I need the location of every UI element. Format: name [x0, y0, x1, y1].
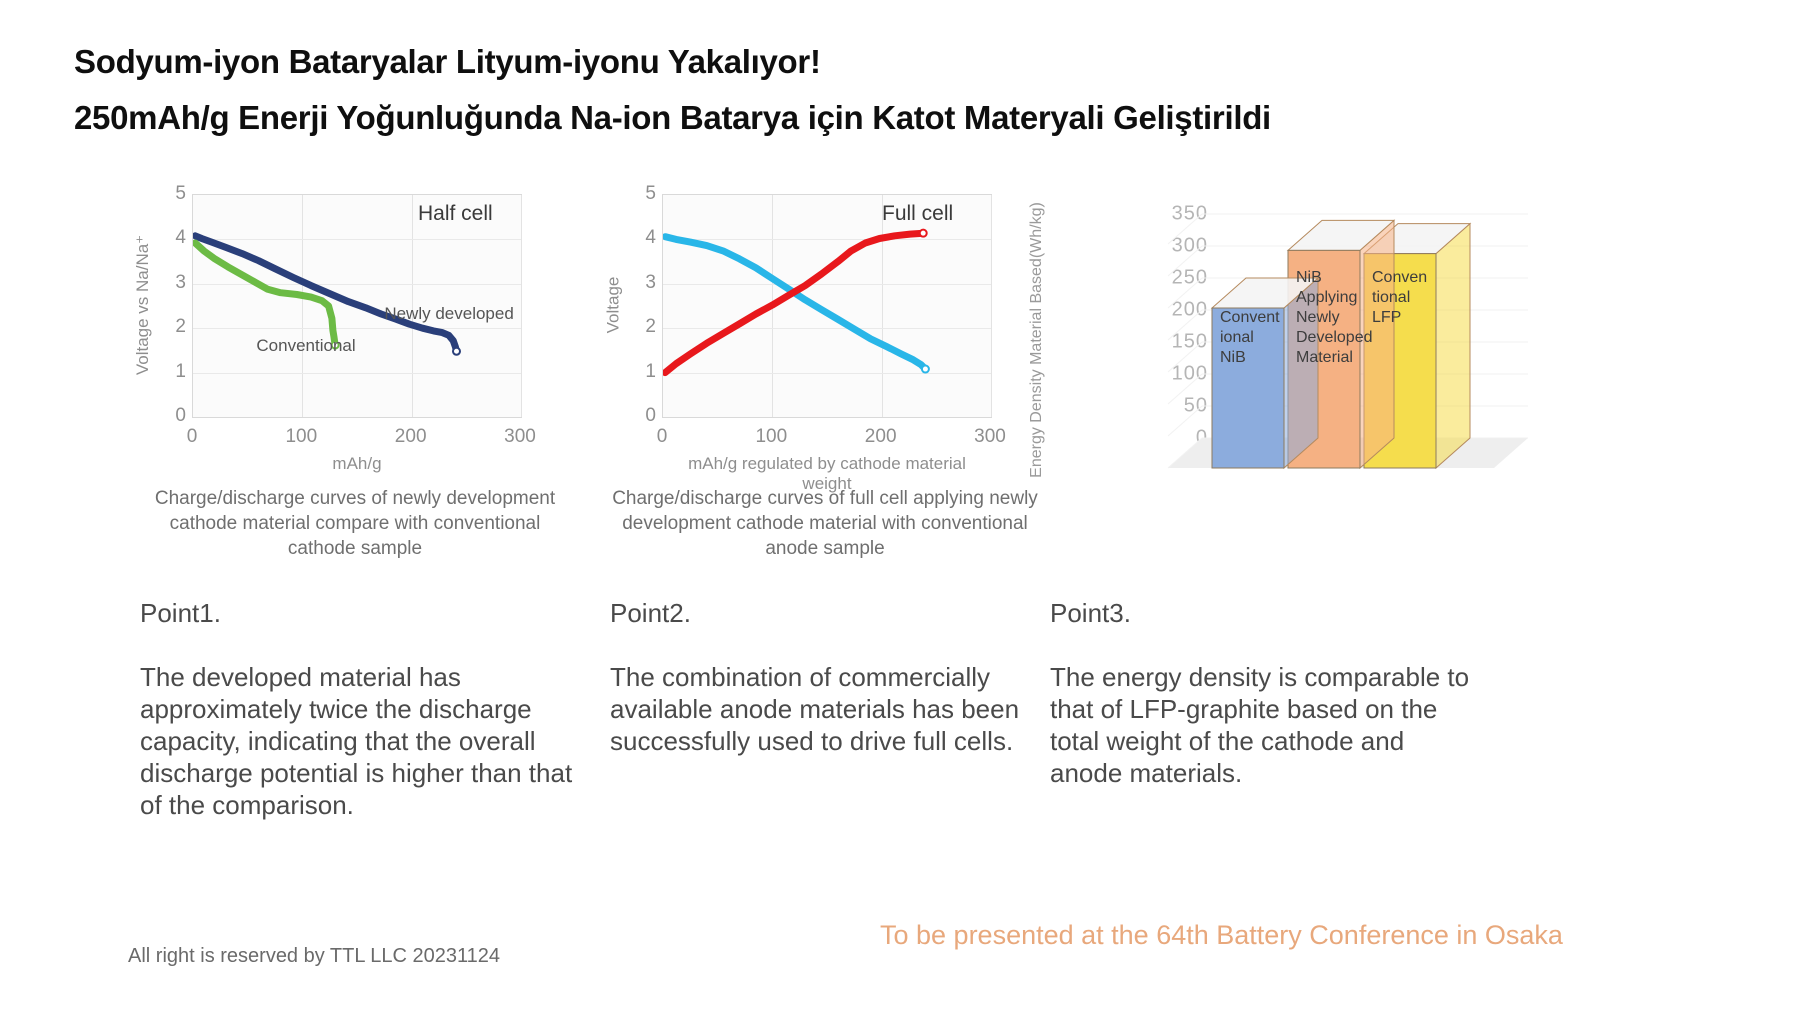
point-1-text: The developed material has approximately…: [140, 661, 580, 821]
chart1-xtick: 0: [187, 426, 198, 448]
title-line-2: 250mAh/g Enerji Yoğunluğunda Na-ion Bata…: [74, 90, 1734, 146]
gridline: [1168, 246, 1202, 276]
chart2-ytick: 0: [645, 405, 656, 427]
bar-face: [1436, 224, 1470, 468]
point-2-text: The combination of commercially availabl…: [610, 661, 1030, 757]
gridline: [1168, 342, 1202, 372]
chart2-ytick: 3: [645, 272, 656, 294]
chart3-y-axis-label: Energy Density Material Based(Wh/kg): [1024, 190, 1050, 490]
series-endpoint: [453, 348, 460, 355]
series-line: [195, 236, 456, 351]
chart1-y-ticks: 012345: [156, 194, 190, 422]
chart1-x-ticks: 0100200300: [192, 426, 522, 452]
chart1-caption: Charge/discharge curves of newly develop…: [130, 486, 580, 561]
point-2-block: Point2. The combination of commercially …: [610, 565, 1030, 789]
column-energy-density: Energy Density Material Based(Wh/kg) 050…: [1040, 190, 1560, 510]
series-line: [665, 233, 923, 372]
series-line: [195, 243, 335, 345]
chart2-xtick: 200: [865, 426, 897, 448]
chart1-xtick: 200: [395, 426, 427, 448]
chart-full-cell: Voltage 012345 0100200300 mAh/g regulate…: [600, 190, 1050, 480]
chart1-ytick: 0: [175, 405, 186, 427]
gridline: [521, 195, 522, 417]
gridline: [991, 195, 992, 417]
series-line: [665, 237, 925, 369]
chart2-x-ticks: 0100200300: [662, 426, 992, 452]
point-3-block: Point3. The energy density is comparable…: [1050, 565, 1470, 821]
chart1-cell-badge: Half cell: [418, 202, 493, 226]
point-3-text: The energy density is comparable to that…: [1050, 661, 1470, 789]
page-title: Sodyum-iyon Bataryalar Lityum-iyonu Yaka…: [74, 34, 1734, 146]
chart2-xtick: 0: [657, 426, 668, 448]
gridline: [1168, 374, 1202, 404]
gridline: [1168, 214, 1202, 244]
chart2-y-ticks: 012345: [626, 194, 660, 422]
series-annotation: Conventional: [256, 336, 355, 356]
chart2-ytick: 4: [645, 227, 656, 249]
series-endpoint: [922, 366, 929, 373]
chart-half-cell: Voltage vs Na/Na⁺ 012345 Newly developed…: [130, 190, 580, 480]
chart2-caption: Charge/discharge curves of full cell app…: [600, 486, 1050, 561]
chart2-y-axis-label: Voltage: [600, 190, 626, 420]
chart1-y-axis-label: Voltage vs Na/Na⁺: [130, 190, 156, 420]
chart2-plot-area: [662, 194, 992, 418]
chart1-ytick: 5: [175, 183, 186, 205]
chart2-ytick: 5: [645, 183, 656, 205]
gridline: [1168, 310, 1202, 340]
chart1-ytick: 3: [175, 272, 186, 294]
series-annotation: Newly developed: [384, 304, 513, 324]
chart1-ytick: 4: [175, 227, 186, 249]
bar-label: Conven tional LFP: [1372, 268, 1436, 328]
bar-label: NiB Applying Newly Developed Material: [1296, 268, 1360, 368]
chart1-ytick: 1: [175, 361, 186, 383]
chart2-xtick: 300: [974, 426, 1006, 448]
copyright-text: All right is reserved by TTL LLC 2023112…: [128, 945, 500, 968]
chart1-x-axis-label: mAh/g: [192, 454, 522, 474]
chart2-x-axis-label: mAh/g regulated by cathode material weig…: [662, 454, 992, 494]
chart2-cell-badge: Full cell: [882, 202, 953, 226]
chart1-plot-area: Newly developedConventional: [192, 194, 522, 418]
column-half-cell: Voltage vs Na/Na⁺ 012345 Newly developed…: [130, 190, 580, 561]
conference-note: To be presented at the 64th Battery Conf…: [880, 920, 1563, 951]
chart2-series-layer: [663, 195, 991, 417]
bar-label: Convent ional NiB: [1220, 308, 1284, 368]
chart-energy-density: Energy Density Material Based(Wh/kg) 050…: [1040, 190, 1560, 510]
point-1-block: Point1. The developed material has appro…: [140, 565, 580, 853]
point-3-title: Point3.: [1050, 597, 1470, 629]
column-full-cell: Voltage 012345 0100200300 mAh/g regulate…: [600, 190, 1050, 561]
chart2-xtick: 100: [755, 426, 787, 448]
chart2-ytick: 2: [645, 316, 656, 338]
gridline: [1168, 406, 1202, 436]
point-2-title: Point2.: [610, 597, 1030, 629]
chart1-xtick: 300: [504, 426, 536, 448]
point-1-title: Point1.: [140, 597, 580, 629]
chart1-ytick: 2: [175, 316, 186, 338]
chart2-ytick: 1: [645, 361, 656, 383]
gridline: [1168, 278, 1202, 308]
content-columns: Voltage vs Na/Na⁺ 012345 Newly developed…: [0, 190, 1800, 890]
title-line-1: Sodyum-iyon Bataryalar Lityum-iyonu Yaka…: [74, 34, 1734, 90]
series-endpoint: [920, 230, 927, 237]
chart1-xtick: 100: [285, 426, 317, 448]
